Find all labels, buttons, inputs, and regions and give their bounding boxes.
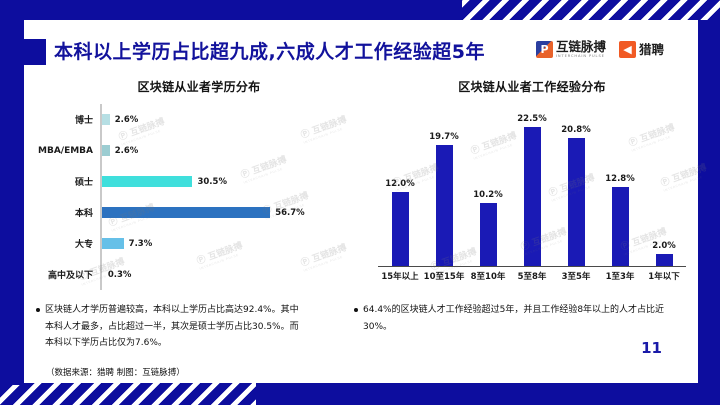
title-row: 本科以上学历占比超九成,六成人才工作经验超5年 P 互链脉搏 INTERCHAI…: [24, 34, 698, 70]
chart-left-value-label: 30.5%: [197, 177, 227, 187]
chart-right-value-label: 10.2%: [473, 190, 503, 200]
chart-right-title: 区块链从业者工作经验分布: [372, 78, 692, 95]
chart-left-bar: [102, 145, 110, 156]
chart-right-value-label: 2.0%: [652, 241, 676, 251]
chart-right-value-label: 12.8%: [605, 174, 635, 184]
bullet-dot-icon: [354, 308, 358, 312]
chart-right-column: 19.7%: [426, 102, 462, 266]
note-left: 区块链人才学历普遍较高，本科以上学历占比高达92.4%。其中本科人才最多，占比超…: [36, 302, 302, 352]
content-card: 本科以上学历占比超九成,六成人才工作经验超5年 P 互链脉搏 INTERCHAI…: [24, 20, 698, 383]
note-right-text: 64.4%的区块链人才工作经验超过5年，并且工作经验8年以上的人才占比近30%。: [363, 302, 684, 335]
diagonal-stripes-top-right: [460, 0, 720, 20]
chart-left-bar: [102, 114, 110, 125]
chart-right-bar: [436, 145, 453, 266]
page-number: 11: [641, 339, 662, 357]
chart-right-bar: [392, 192, 409, 266]
frame-right-bar: [698, 20, 720, 405]
chart-left-axis-tick: [100, 228, 101, 259]
frame-top-bar: [0, 0, 462, 20]
chart-left-bar-row: 大专7.3%: [34, 228, 364, 259]
chart-left-plot-area: 博士2.6%MBA/EMBA2.6%硕士30.5%本科56.7%大专7.3%高中…: [34, 104, 364, 290]
chart-right-category-label: 15年以上: [377, 270, 423, 282]
chart-right-column: 20.8%: [558, 102, 594, 266]
chart-right-category-label: 8至10年: [465, 270, 511, 282]
chart-left-axis-tick: [100, 135, 101, 166]
chart-left-value-label: 2.6%: [115, 115, 139, 125]
chart-right-plot-area: 12.0%19.7%10.2%22.5%20.8%12.8%2.0%: [378, 102, 686, 266]
diagonal-stripes-bottom-left: [0, 383, 270, 405]
chart-right-category-label: 10至15年: [421, 270, 467, 282]
chart-right-column: 10.2%: [470, 102, 506, 266]
brand-sub-hlmb: INTERCHAIN PULSE: [556, 54, 606, 58]
chart-left-bar: [102, 207, 270, 218]
chart-right-category-label: 5至8年: [509, 270, 555, 282]
chart-left-category-label: 本科: [34, 206, 100, 219]
charts-region: 区块链从业者学历分布 博士2.6%MBA/EMBA2.6%硕士30.5%本科56…: [24, 78, 698, 298]
chart-left-axis-tick: [100, 259, 101, 290]
note-right: 64.4%的区块链人才工作经验超过5年，并且工作经验8年以上的人才占比近30%。: [354, 302, 684, 335]
chart-left-value-label: 2.6%: [115, 146, 139, 156]
chart-right-bar: [568, 138, 585, 266]
brand-hulianmaibo: P 互链脉搏 INTERCHAIN PULSE: [536, 40, 606, 58]
chart-right-value-label: 12.0%: [385, 179, 415, 189]
frame-bottom-bar: [256, 383, 720, 405]
chart-right-column: 12.8%: [602, 102, 638, 266]
chart-right-axis: [378, 266, 686, 267]
chart-right-category-label: 1至3年: [597, 270, 643, 282]
chart-experience-distribution: 区块链从业者工作经验分布 12.0%19.7%10.2%22.5%20.8%12…: [372, 78, 692, 294]
chart-right-bar: [480, 203, 497, 266]
chart-left-bar: [102, 269, 103, 280]
source-note: （数据来源：猎聘 制图：互链脉搏）: [46, 366, 185, 378]
chart-left-bar-row: 高中及以下0.3%: [34, 259, 364, 290]
chart-left-category-label: MBA/EMBA: [34, 146, 100, 156]
chart-left-axis-tick: [100, 166, 101, 197]
title-accent-block: [24, 39, 46, 65]
chart-right-category-label: 3至5年: [553, 270, 599, 282]
chart-left-bar-row: 博士2.6%: [34, 104, 364, 135]
brand-logos: P 互链脉搏 INTERCHAIN PULSE ◀ 猎聘: [536, 40, 664, 58]
chart-education-distribution: 区块链从业者学历分布 博士2.6%MBA/EMBA2.6%硕士30.5%本科56…: [34, 78, 364, 294]
brand-name-hlmb: 互链脉搏: [556, 40, 606, 53]
chart-right-value-label: 19.7%: [429, 132, 459, 142]
chart-left-bar: [102, 176, 192, 187]
liepin-logo-icon: ◀: [619, 41, 636, 58]
chart-left-bar: [102, 238, 124, 249]
chart-left-category-label: 大专: [34, 237, 100, 250]
slide-root: 本科以上学历占比超九成,六成人才工作经验超5年 P 互链脉搏 INTERCHAI…: [0, 0, 720, 405]
chart-right-category-label: 1年以下: [641, 270, 687, 282]
chart-right-value-label: 20.8%: [561, 125, 591, 135]
page-title: 本科以上学历占比超九成,六成人才工作经验超5年: [54, 37, 485, 64]
chart-right-bar: [524, 127, 541, 266]
chart-right-bar: [656, 254, 673, 266]
frame-left-bar: [0, 0, 24, 385]
chart-left-value-label: 7.3%: [129, 239, 153, 249]
chart-right-value-label: 22.5%: [517, 114, 547, 124]
chart-left-category-label: 高中及以下: [34, 268, 100, 281]
chart-left-bar-row: MBA/EMBA2.6%: [34, 135, 364, 166]
chart-left-category-label: 硕士: [34, 175, 100, 188]
chart-left-title: 区块链从业者学历分布: [34, 78, 364, 95]
chart-left-value-label: 56.7%: [275, 208, 305, 218]
chart-right-column: 12.0%: [382, 102, 418, 266]
chart-left-bar-row: 本科56.7%: [34, 197, 364, 228]
bullet-dot-icon: [36, 308, 40, 312]
chart-left-axis-tick: [100, 197, 101, 228]
chart-left-value-label: 0.3%: [108, 270, 132, 280]
hlmb-logo-icon: P: [536, 41, 553, 58]
chart-right-bar: [612, 187, 629, 266]
chart-left-category-label: 博士: [34, 113, 100, 126]
chart-right-column: 22.5%: [514, 102, 550, 266]
brand-name-liepin: 猎聘: [639, 43, 664, 56]
note-left-text: 区块链人才学历普遍较高，本科以上学历占比高达92.4%。其中本科人才最多，占比超…: [45, 302, 302, 352]
chart-right-category-labels: 15年以上10至15年8至10年5至8年3至5年1至3年1年以下: [378, 270, 686, 290]
chart-left-axis-tick: [100, 104, 101, 135]
chart-right-column: 2.0%: [646, 102, 682, 266]
chart-left-bar-row: 硕士30.5%: [34, 166, 364, 197]
brand-liepin: ◀ 猎聘: [619, 41, 664, 58]
